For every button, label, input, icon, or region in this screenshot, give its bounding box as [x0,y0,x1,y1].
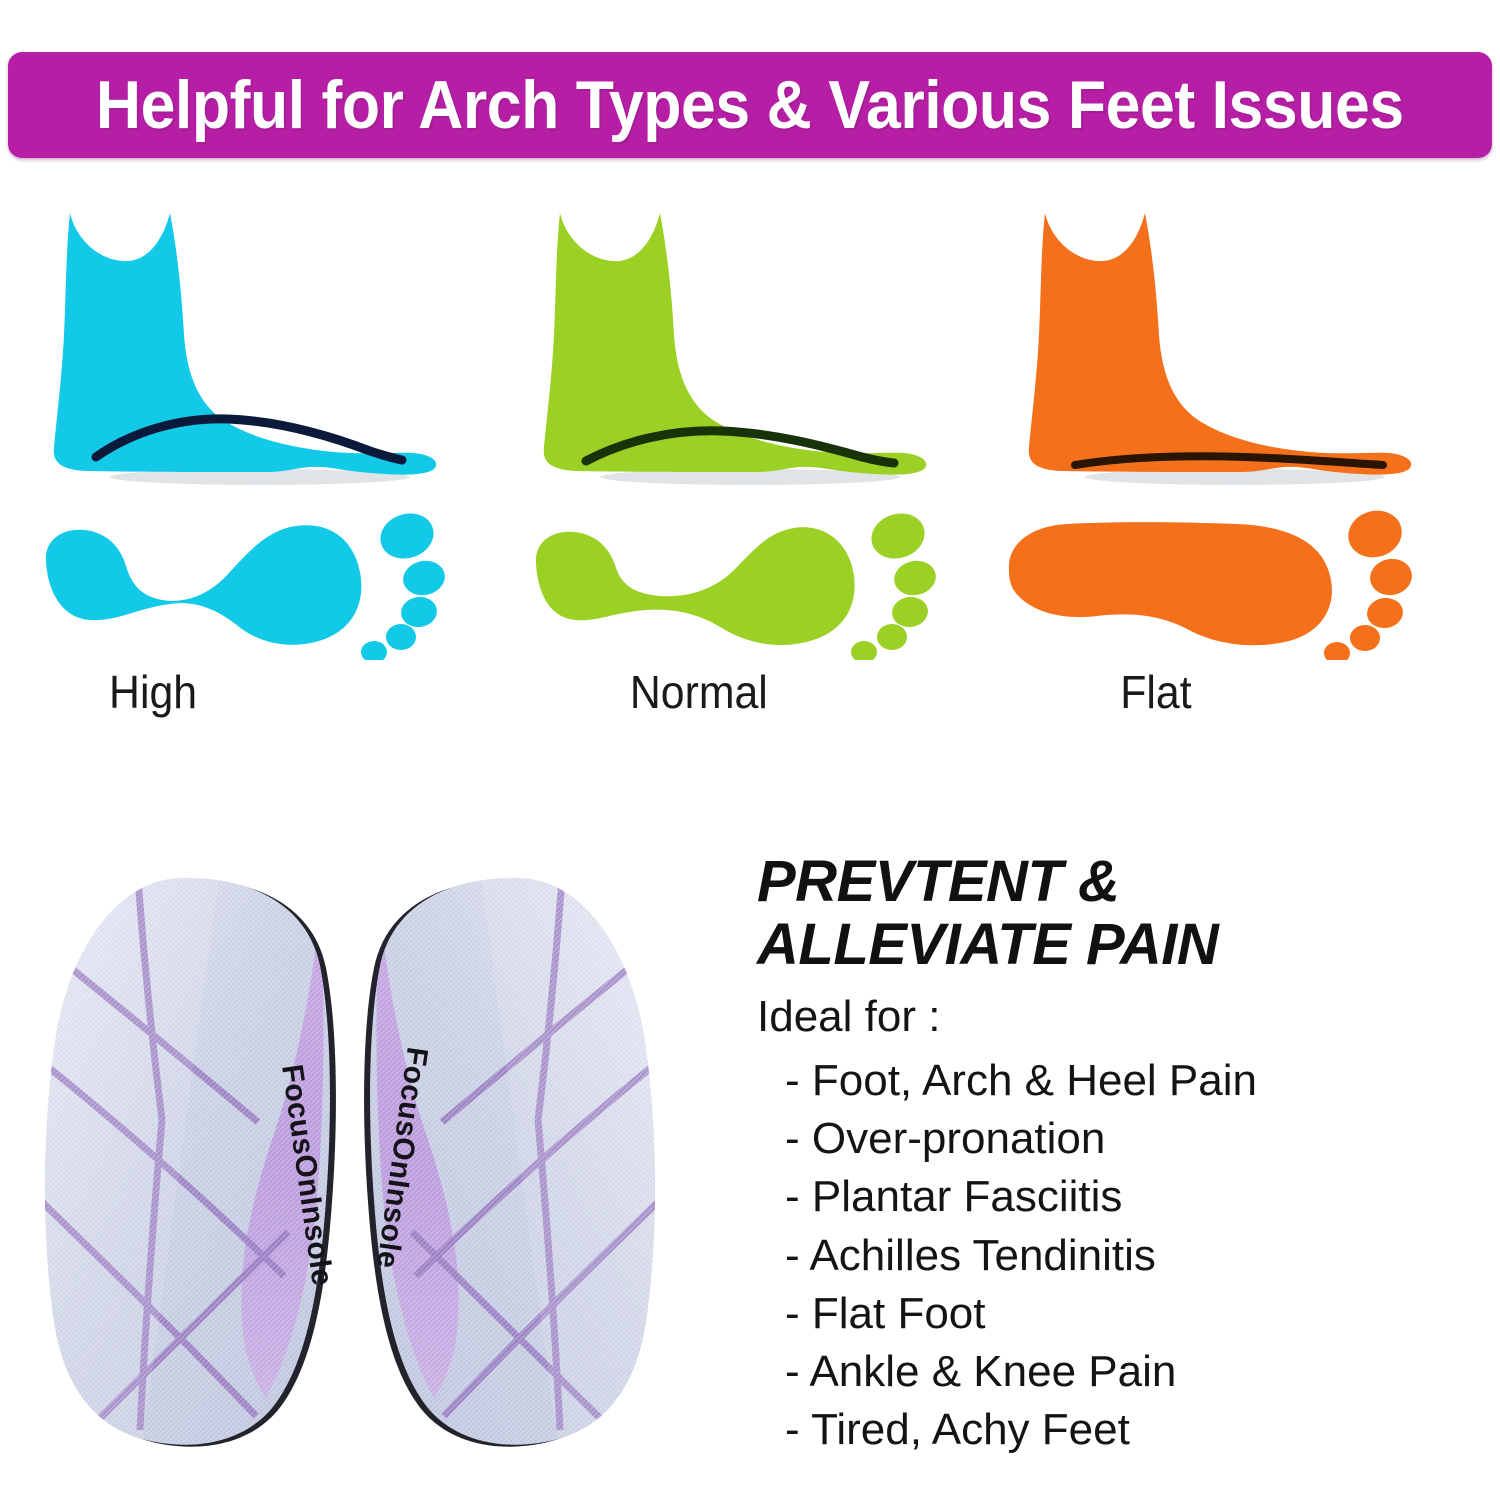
list-item: - Over-pronation [757,1110,1487,1168]
insole-left: FocusOnInsole [40,870,340,1460]
benefits-panel: PREVTENT & ALLEVIATE PAIN Ideal for : - … [757,852,1487,1462]
list-item: - Tired, Achy Feet [757,1401,1487,1459]
flat-arch-side-foot-illustration [985,195,1485,495]
benefits-intro-label: Ideal for : [757,992,1487,1042]
list-item: - Flat Foot [757,1285,1487,1343]
arch-type-comparison: High Normal [0,195,1500,740]
high-arch-footprint-illustration [10,500,510,660]
list-item: - Achilles Tendinitis [757,1227,1487,1285]
normal-arch-side-foot-illustration [500,195,1000,495]
benefits-headline-line-1: PREVTENT & [757,852,1487,911]
arch-type-normal-label: Normal [518,665,983,719]
arch-type-high-label: High [28,665,493,719]
arch-type-normal: Normal [500,195,1000,740]
arch-type-high: High [10,195,510,740]
normal-arch-footprint-illustration [500,500,1000,660]
arch-type-flat: Flat [985,195,1485,740]
list-item: - Ankle & Knee Pain [757,1343,1487,1401]
list-item: - Plantar Fasciitis [757,1168,1487,1226]
benefits-list: - Foot, Arch & Heel Pain - Over-pronatio… [757,1052,1487,1459]
infographic-page: Helpful for Arch Types & Various Feet Is… [0,0,1500,1500]
benefits-headline-line-2: ALLEVIATE PAIN [757,915,1487,974]
arch-type-flat-label: Flat [1003,665,1468,719]
insole-pair-image: FocusOnInsole [20,870,680,1460]
insole-right: FocusOnInsole [360,870,660,1460]
flat-arch-footprint-illustration [985,500,1485,660]
list-item: - Foot, Arch & Heel Pain [757,1052,1487,1110]
banner-title: Helpful for Arch Types & Various Feet Is… [96,71,1404,139]
high-arch-side-foot-illustration [10,195,510,495]
header-banner: Helpful for Arch Types & Various Feet Is… [8,52,1492,158]
